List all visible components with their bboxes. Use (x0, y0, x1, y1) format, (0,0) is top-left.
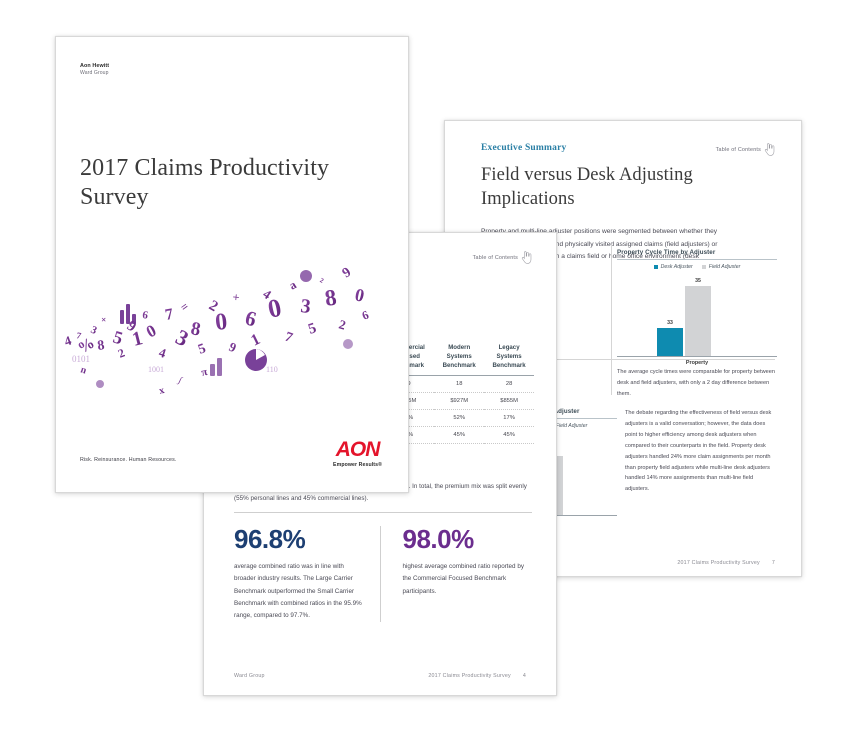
svg-text:%: % (75, 334, 98, 357)
bar-value-field-property: 35 (685, 278, 711, 284)
bar-field-property: 35 (685, 286, 711, 356)
svg-text:3: 3 (299, 295, 311, 318)
cell-r1c3: 18 (434, 376, 484, 393)
document-preview-stage: Table of Contents Executive Summary Fiel… (0, 0, 860, 730)
footer-brand: Ward Group (234, 673, 265, 679)
footer-page-number: 7 (772, 560, 775, 566)
svg-text:π: π (200, 366, 208, 379)
svg-text:5: 5 (306, 320, 318, 338)
key-stats-row: 96.8% average combined ratio was in line… (234, 512, 532, 622)
cover-artwork-numbers: 4 7 % 3 8 + 5 2 9 1 6 0 4 7 3 = 8 5 2 0 (60, 254, 390, 464)
aon-wordmark: AON (333, 439, 382, 460)
stat-text-2: highest average combined ratio reported … (403, 561, 533, 598)
bar-value-desk-property: 33 (657, 320, 683, 326)
svg-text:4: 4 (157, 345, 168, 361)
stat-value-1: 96.8% (234, 526, 364, 552)
footer-page-number-mid: 4 (523, 673, 526, 679)
chart-note-property: The average cycle times were comparable … (617, 367, 777, 400)
svg-text:0: 0 (143, 321, 159, 342)
svg-text:a: a (287, 277, 299, 292)
cell-r1c4: 28 (484, 376, 534, 393)
svg-text:∫: ∫ (176, 374, 185, 386)
exec-page-title: Field versus Desk Adjusting Implications (481, 164, 775, 211)
svg-text:9: 9 (340, 265, 354, 281)
legend-item-desk-adjuster: Desk Adjuster (654, 264, 693, 270)
svg-text:7: 7 (283, 330, 295, 346)
svg-text:110: 110 (266, 365, 278, 374)
svg-text:6: 6 (360, 308, 371, 323)
table-of-contents-label: Table of Contents (716, 147, 761, 153)
table-of-contents-label-mid: Table of Contents (473, 255, 518, 261)
svg-text:6: 6 (243, 306, 259, 332)
brand-ward-group: Ward Group (80, 70, 109, 76)
svg-text:0: 0 (265, 293, 284, 324)
svg-text:x: x (158, 385, 166, 397)
svg-text:8: 8 (96, 338, 105, 354)
cell-r3c3: 52% (434, 410, 484, 427)
hand-cursor-icon-mid (521, 251, 532, 264)
svg-text:2: 2 (206, 298, 220, 316)
brand-aon-hewitt: Aon Hewitt (80, 63, 109, 69)
stat-combined-ratio-highest: 98.0% highest average combined ratio rep… (380, 526, 533, 622)
table-col-modern: Modern Systems Benchmark (434, 343, 484, 376)
svg-text:4: 4 (260, 286, 274, 302)
cell-r2c3: $927M (434, 393, 484, 410)
stat-value-2: 98.0% (403, 526, 533, 552)
svg-text:7: 7 (76, 330, 83, 341)
table-of-contents-link-mid[interactable]: Table of Contents (473, 251, 532, 264)
svg-text:2: 2 (337, 316, 347, 332)
chart-note-bottom-wrap: The debate regarding the effectiveness o… (625, 408, 775, 495)
legend-swatch-field (702, 265, 707, 270)
cell-r3c4: 17% (484, 410, 534, 427)
cell-r4c3: 45% (434, 427, 484, 444)
svg-text:6: 6 (142, 309, 150, 322)
chart-property-cycle-time: Property Cycle Time by Adjuster Desk Adj… (617, 249, 777, 366)
stat-combined-ratio-average: 96.8% average combined ratio was in line… (234, 526, 380, 622)
stat-text-1: average combined ratio was in line with … (234, 561, 364, 622)
svg-text:0: 0 (353, 284, 366, 305)
svg-text:0101: 0101 (72, 354, 90, 364)
cover-brand-lockup: Aon Hewitt Ward Group (80, 63, 109, 76)
legend-label-field: Field Adjuster (709, 264, 741, 270)
svg-text:1: 1 (130, 327, 145, 351)
legend-label-desk: Desk Adjuster (661, 264, 693, 270)
column-divider-top (611, 245, 612, 395)
svg-text:2: 2 (116, 346, 127, 361)
bar-desk-property: 33 (657, 328, 683, 356)
svg-text:×: × (230, 291, 243, 304)
chart-legend: Desk Adjuster Field Adjuster (617, 264, 777, 270)
footer-right: 2017 Claims Productivity Survey 7 (677, 560, 775, 566)
cover-title: 2017 Claims Productivity Survey (80, 154, 368, 213)
cell-r4c4: 45% (484, 427, 534, 444)
legend-swatch-desk (654, 265, 659, 270)
table-of-contents-link-exec[interactable]: Table of Contents (716, 143, 775, 156)
aon-logo: AON Empower Results® (333, 439, 382, 468)
svg-text:1: 1 (248, 331, 263, 350)
svg-text:9: 9 (227, 339, 239, 356)
svg-text:0: 0 (214, 309, 229, 336)
benchmarks-page-footer: Ward Group 2017 Claims Productivity Surv… (204, 663, 556, 689)
chart-title: Property Cycle Time by Adjuster (617, 249, 777, 260)
svg-text:1001: 1001 (148, 365, 164, 374)
legend-label-field-2: Field Adjuster (556, 423, 588, 429)
svg-text:n: n (79, 364, 88, 376)
footer-right-mid: 2017 Claims Productivity Survey 4 (428, 673, 526, 679)
hand-cursor-icon (764, 143, 775, 156)
svg-text:4: 4 (62, 332, 73, 348)
svg-text:8: 8 (189, 318, 202, 340)
svg-text:3: 3 (89, 324, 99, 337)
svg-text:3: 3 (172, 324, 193, 351)
aon-tagline: Empower Results® (333, 462, 382, 468)
svg-text:5: 5 (196, 341, 208, 357)
footer-doc-title: 2017 Claims Productivity Survey (677, 560, 759, 566)
legend-item-field-adjuster: Field Adjuster (702, 264, 741, 270)
svg-text:5: 5 (111, 327, 125, 349)
svg-text:7: 7 (164, 306, 175, 324)
svg-text:²: ² (317, 276, 326, 288)
table-col-legacy: Legacy Systems Benchmark (484, 343, 534, 376)
chart-plot-area: 33 35 (617, 278, 777, 357)
footer-doc-title-mid: 2017 Claims Productivity Survey (428, 673, 510, 679)
svg-text:8: 8 (323, 285, 338, 311)
document-page-cover[interactable]: Aon Hewitt Ward Group 2017 Claims Produc… (55, 36, 409, 493)
svg-text:=: = (178, 299, 192, 314)
chart-note-multiline: The debate regarding the effectiveness o… (625, 408, 775, 495)
svg-text:+: + (98, 314, 110, 326)
cover-tagline: Risk. Reinsurance. Human Resources. (80, 457, 177, 463)
svg-text:9: 9 (124, 318, 139, 336)
chart-note-top-wrap: The average cycle times were comparable … (617, 359, 777, 400)
cell-r2c4: $855M (484, 393, 534, 410)
